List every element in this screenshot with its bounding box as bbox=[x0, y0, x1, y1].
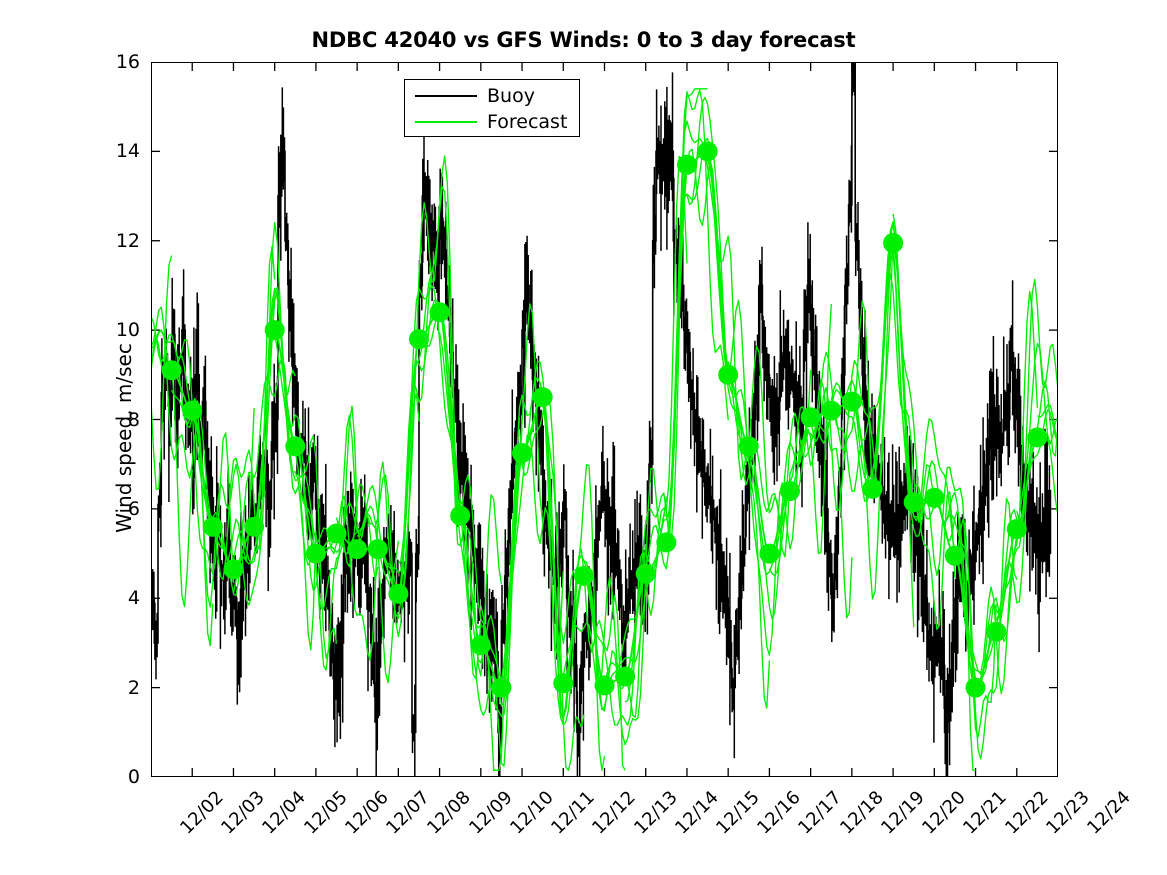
y-tick-label: 12 bbox=[116, 230, 140, 252]
x-tick-label: 12/14 bbox=[671, 787, 723, 839]
legend-swatch-buoy bbox=[415, 95, 477, 97]
forecast-marker-dot bbox=[739, 436, 759, 456]
x-tick-label: 12/17 bbox=[795, 787, 847, 839]
forecast-marker-dot bbox=[1007, 519, 1027, 539]
y-axis-tick-labels: 0246810121416 bbox=[96, 62, 140, 777]
forecast-marker-dot bbox=[636, 564, 656, 584]
forecast-marker-dot bbox=[677, 155, 697, 175]
forecast-marker-dot bbox=[801, 407, 821, 427]
forecast-marker-dot bbox=[883, 233, 903, 253]
forecast-marker-dot bbox=[306, 544, 326, 564]
forecast-marker-dot bbox=[471, 635, 491, 655]
x-tick-label: 12/21 bbox=[960, 787, 1012, 839]
x-axis-tick-labels: 12/0212/0312/0412/0512/0612/0712/0812/09… bbox=[151, 777, 1058, 867]
forecast-marker-dot bbox=[533, 387, 553, 407]
forecast-marker-dot bbox=[945, 546, 965, 566]
x-tick-label: 12/08 bbox=[424, 787, 476, 839]
forecast-marker-dot bbox=[327, 524, 347, 544]
forecast-marker-dot bbox=[491, 678, 511, 698]
forecast-trace bbox=[687, 138, 811, 655]
legend-entry-buoy: Buoy bbox=[405, 83, 579, 109]
forecast-marker-dot bbox=[780, 481, 800, 501]
y-tick-label: 16 bbox=[116, 51, 140, 73]
x-tick-label: 12/12 bbox=[588, 787, 640, 839]
chart-figure: NDBC 42040 vs GFS Winds: 0 to 3 day fore… bbox=[0, 0, 1167, 875]
forecast-marker-dot bbox=[285, 436, 305, 456]
forecast-marker-dot bbox=[368, 539, 388, 559]
y-tick-label: 0 bbox=[128, 766, 140, 788]
x-tick-label: 12/02 bbox=[176, 787, 228, 839]
x-tick-label: 12/11 bbox=[547, 787, 599, 839]
forecast-marker-dot bbox=[553, 673, 573, 693]
forecast-marker-dot bbox=[615, 667, 635, 687]
forecast-marker-dot bbox=[842, 392, 862, 412]
forecast-ensemble-group bbox=[151, 89, 1058, 771]
forecast-marker-dot bbox=[182, 401, 202, 421]
forecast-marker-dot bbox=[244, 517, 264, 537]
y-tick-label: 2 bbox=[128, 677, 140, 699]
forecast-marker-dot bbox=[409, 329, 429, 349]
forecast-marker-dot bbox=[388, 584, 408, 604]
x-tick-label: 12/18 bbox=[836, 787, 888, 839]
legend-swatch-forecast bbox=[415, 121, 477, 123]
x-tick-label: 12/22 bbox=[1001, 787, 1053, 839]
x-tick-label: 12/10 bbox=[506, 787, 558, 839]
legend-entry-forecast: Forecast bbox=[405, 109, 579, 135]
forecast-marker-dot bbox=[698, 141, 718, 161]
forecast-marker-dot bbox=[863, 479, 883, 499]
forecast-marker-dot bbox=[904, 492, 924, 512]
x-tick-label: 12/07 bbox=[382, 787, 434, 839]
forecast-marker-dot bbox=[595, 675, 615, 695]
x-tick-label: 12/06 bbox=[341, 787, 393, 839]
forecast-marker-dot bbox=[512, 443, 532, 463]
x-tick-label: 12/24 bbox=[1083, 787, 1135, 839]
forecast-marker-dot bbox=[265, 320, 285, 340]
forecast-marker-dot bbox=[718, 365, 738, 385]
x-tick-label: 12/20 bbox=[918, 787, 970, 839]
y-tick-label: 14 bbox=[116, 140, 140, 162]
x-tick-label: 12/13 bbox=[630, 787, 682, 839]
forecast-marker-dot bbox=[924, 488, 944, 508]
forecast-marker-dot bbox=[347, 539, 367, 559]
x-tick-label: 12/23 bbox=[1042, 787, 1094, 839]
forecast-marker-dot bbox=[574, 566, 594, 586]
legend-label-forecast: Forecast bbox=[487, 113, 567, 132]
forecast-marker-dot bbox=[966, 678, 986, 698]
plot-area bbox=[151, 62, 1058, 777]
plot-canvas bbox=[151, 62, 1058, 777]
forecast-trace bbox=[831, 224, 955, 629]
x-tick-label: 12/04 bbox=[259, 787, 311, 839]
forecast-marker-dot bbox=[162, 360, 182, 380]
y-tick-label: 6 bbox=[128, 498, 140, 520]
forecast-marker-dot bbox=[656, 532, 676, 552]
chart-title: NDBC 42040 vs GFS Winds: 0 to 3 day fore… bbox=[0, 28, 1167, 52]
y-tick-label: 8 bbox=[128, 409, 140, 431]
x-tick-label: 12/09 bbox=[465, 787, 517, 839]
forecast-marker-dot bbox=[821, 401, 841, 421]
forecast-marker-dot bbox=[224, 559, 244, 579]
x-tick-label: 12/16 bbox=[753, 787, 805, 839]
x-tick-label: 12/19 bbox=[877, 787, 929, 839]
forecast-marker-dot bbox=[986, 622, 1006, 642]
forecast-marker-dot bbox=[759, 544, 779, 564]
y-tick-label: 4 bbox=[128, 587, 140, 609]
x-tick-label: 12/15 bbox=[712, 787, 764, 839]
forecast-marker-dot bbox=[450, 506, 470, 526]
x-tick-label: 12/03 bbox=[217, 787, 269, 839]
chart-legend: Buoy Forecast bbox=[404, 79, 580, 137]
forecast-marker-dot bbox=[430, 302, 450, 322]
y-tick-label: 10 bbox=[116, 319, 140, 341]
forecast-marker-dot bbox=[203, 517, 223, 537]
forecast-marker-dot bbox=[1027, 427, 1047, 447]
forecast-analysis-line bbox=[172, 151, 1038, 687]
legend-label-buoy: Buoy bbox=[487, 87, 535, 106]
x-tick-label: 12/05 bbox=[300, 787, 352, 839]
